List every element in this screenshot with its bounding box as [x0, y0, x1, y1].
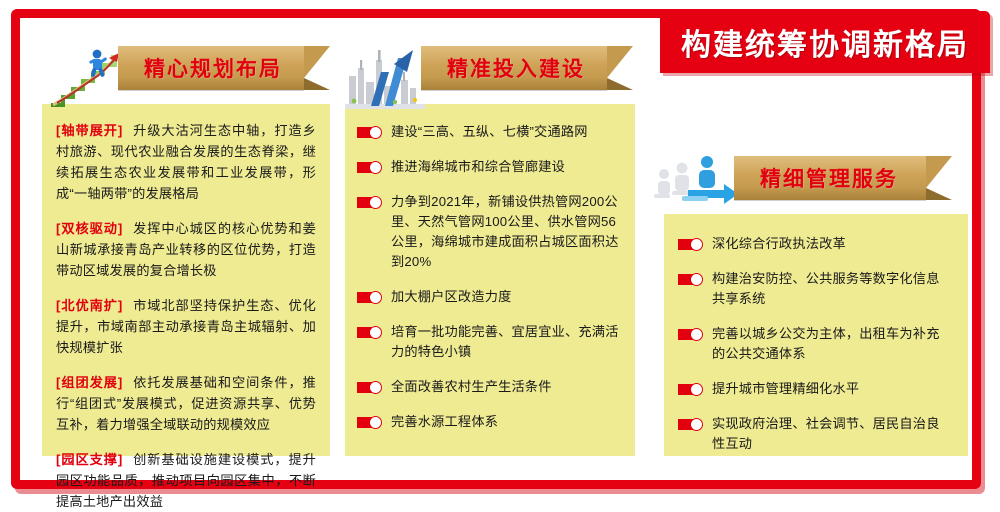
list-item: 加大棚户区改造力度 [357, 287, 621, 307]
banner-management-title: 精细管理服务 [760, 163, 898, 193]
paragraph-tag: [双核驱动] [56, 221, 122, 236]
panel-construction: 建设“三高、五纵、七横”交通路网 推进海绵城市和综合管廊建设 力争到2021年，… [345, 104, 635, 456]
paragraph-tag: [轴带展开] [56, 123, 122, 138]
bullet-marker-icon [678, 238, 703, 251]
list-item: 推进海绵城市和综合管廊建设 [357, 157, 621, 177]
banner-tip [304, 46, 330, 90]
column-planning: 精心规划布局 [轴带展开]升级大沽河生态中轴，打造乡村旅游、现代农业融合发展的生… [42, 40, 330, 456]
bullet-text: 提升城市管理精细化水平 [712, 379, 859, 399]
bullet-marker-icon [357, 126, 382, 139]
banner-planning-title: 精心规划布局 [144, 53, 282, 83]
bullet-marker-icon [357, 416, 382, 429]
column-management: 精细管理服务 深化综合行政执法改革 构建治安防控、公共服务等数字化信息共享系统 … [650, 150, 968, 456]
bullet-text: 建设“三高、五纵、七横”交通路网 [391, 122, 588, 142]
banner-tip [607, 46, 633, 90]
bullet-marker-icon [678, 383, 703, 396]
bullet-text: 构建治安防控、公共服务等数字化信息共享系统 [712, 269, 952, 309]
bullet-marker-icon [357, 161, 382, 174]
list-item: 力争到2021年，新铺设供热管网200公里、天然气管网100公里、供水管网56公… [357, 192, 621, 272]
banner-management: 精细管理服务 [734, 156, 926, 200]
banner-construction: 精准投入建设 [421, 46, 607, 90]
banner-row-planning: 精心规划布局 [42, 40, 330, 96]
list-item: 深化综合行政执法改革 [678, 234, 952, 254]
main-title-text: 构建统筹协调新格局 [681, 20, 969, 64]
list-item: 实现政府治理、社会调节、居民自治良性互动 [678, 414, 952, 454]
list-item: [园区支撑]创新基础设施建设模式，提升园区功能品质，推动项目向园区集中，不断提高… [56, 449, 316, 512]
bullet-marker-icon [357, 381, 382, 394]
bullet-marker-icon [357, 291, 382, 304]
bullet-text: 实现政府治理、社会调节、居民自治良性互动 [712, 414, 952, 454]
bullet-text: 推进海绵城市和综合管廊建设 [391, 157, 565, 177]
infographic-poster: 构建统筹协调新格局 [0, 0, 1000, 507]
banner-row-construction: 精准投入建设 [345, 40, 635, 96]
paragraph-tag: [组团发展] [56, 375, 122, 390]
list-item: 建设“三高、五纵、七横”交通路网 [357, 122, 621, 142]
bullet-marker-icon [357, 196, 382, 209]
list-item: 完善水源工程体系 [357, 412, 621, 432]
bullet-marker-icon [678, 273, 703, 286]
paragraph-tag: [园区支撑] [56, 452, 122, 467]
list-item: [北优南扩]市域北部坚持保护生态、优化提升，市域南部主动承接青岛主城辐射、加快规… [56, 295, 316, 358]
paragraph-tag: [北优南扩] [56, 298, 122, 313]
bullet-text: 培育一批功能完善、宜居宜业、充满活力的特色小镇 [391, 322, 621, 362]
panel-planning: [轴带展开]升级大沽河生态中轴，打造乡村旅游、现代农业融合发展的生态脊梁，继续拓… [42, 104, 330, 456]
bullet-marker-icon [678, 328, 703, 341]
list-item: 全面改善农村生产生活条件 [357, 377, 621, 397]
banner-planning: 精心规划布局 [118, 46, 304, 90]
banner-tip [926, 156, 952, 200]
column-construction: 精准投入建设 建设“三高、五纵、七横”交通路网 推进海绵城市和综合管廊建设 力争… [345, 40, 635, 456]
banner-construction-title: 精准投入建设 [447, 53, 585, 83]
banner-row-management: 精细管理服务 [650, 150, 968, 206]
main-title-bar: 构建统筹协调新格局 [660, 11, 990, 73]
bullet-text: 完善水源工程体系 [391, 412, 498, 432]
bullet-text: 深化综合行政执法改革 [712, 234, 846, 254]
bullet-text: 全面改善农村生产生活条件 [391, 377, 552, 397]
bullet-text: 加大棚户区改造力度 [391, 287, 512, 307]
bullet-marker-icon [678, 418, 703, 431]
list-item: 构建治安防控、公共服务等数字化信息共享系统 [678, 269, 952, 309]
list-item: [轴带展开]升级大沽河生态中轴，打造乡村旅游、现代农业融合发展的生态脊梁，继续拓… [56, 120, 316, 204]
list-item: 提升城市管理精细化水平 [678, 379, 952, 399]
list-item: [组团发展]依托发展基础和空间条件，推行“组团式”发展模式，促进资源共享、优势互… [56, 372, 316, 435]
list-item: 培育一批功能完善、宜居宜业、充满活力的特色小镇 [357, 322, 621, 362]
bullet-marker-icon [357, 326, 382, 339]
list-item: 完善以城乡公交为主体，出租车为补充的公共交通体系 [678, 324, 952, 364]
bullet-text: 力争到2021年，新铺设供热管网200公里、天然气管网100公里、供水管网56公… [391, 192, 621, 272]
list-item: [双核驱动]发挥中心城区的核心优势和姜山新城承接青岛产业转移的区位优势，打造带动… [56, 218, 316, 281]
bullet-text: 完善以城乡公交为主体，出租车为补充的公共交通体系 [712, 324, 952, 364]
panel-management: 深化综合行政执法改革 构建治安防控、公共服务等数字化信息共享系统 完善以城乡公交… [664, 214, 968, 456]
